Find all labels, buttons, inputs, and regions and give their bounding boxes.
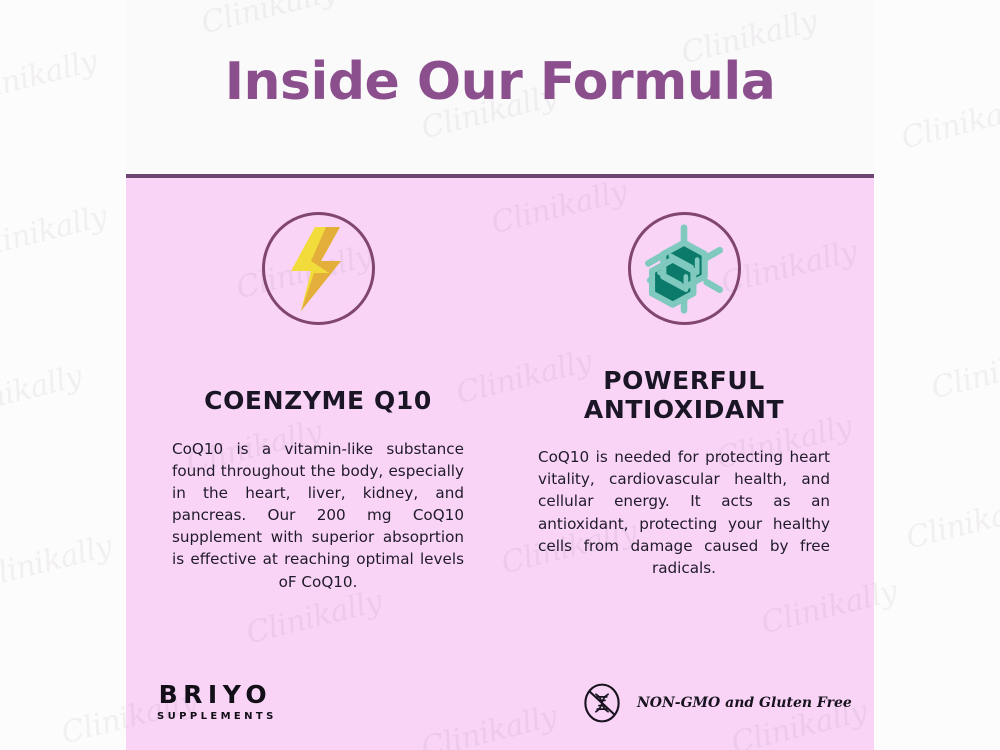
no-gmo-dna-icon <box>581 682 623 724</box>
brand-subtitle: SUPPLEMENTS <box>157 712 277 722</box>
poster-footer: BRIYO SUPPLEMENTS NON-GMO and Gluten Fre… <box>126 668 874 750</box>
non-gmo-badge: NON-GMO and Gluten Free <box>581 682 852 724</box>
feature-columns: COENZYME Q10 CoQ10 is a vitamin-like sub… <box>126 178 874 668</box>
brand-name: BRIYO <box>154 682 277 707</box>
feature-heading-coenzyme: COENZYME Q10 <box>204 387 432 416</box>
feature-heading-antioxidant: POWERFUL ANTIOXIDANT <box>584 367 784 424</box>
feature-body-antioxidant: CoQ10 is needed for protecting heart vit… <box>538 446 830 579</box>
lightning-bolt-icon <box>281 225 355 313</box>
feature-body-coenzyme: CoQ10 is a vitamin-like substance found … <box>172 438 464 593</box>
molecule-icon <box>637 222 731 316</box>
feature-column-coenzyme: COENZYME Q10 CoQ10 is a vitamin-like sub… <box>126 178 500 668</box>
non-gmo-badge-text: NON-GMO and Gluten Free <box>637 695 852 711</box>
feature-heading-antioxidant-line2: ANTIOXIDANT <box>584 396 784 425</box>
page-title: Inside Our Formula <box>126 52 874 112</box>
brand-logo: BRIYO SUPPLEMENTS <box>154 682 277 722</box>
feature-heading-antioxidant-line1: POWERFUL <box>584 367 784 396</box>
icon-circle-antioxidant <box>628 212 741 325</box>
feature-column-antioxidant: POWERFUL ANTIOXIDANT CoQ10 is needed for… <box>500 178 874 668</box>
icon-circle-coenzyme <box>262 212 375 325</box>
